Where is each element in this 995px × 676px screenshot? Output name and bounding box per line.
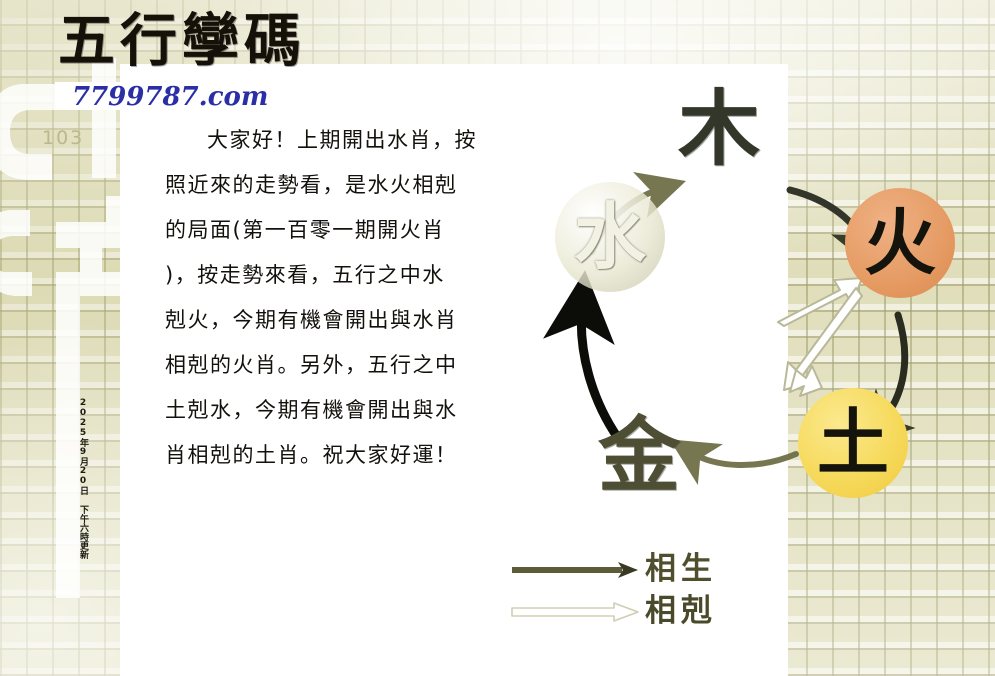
article-line: 的局面(第一百零一期開火肖 (165, 220, 505, 265)
element-earth: 土 (798, 388, 908, 498)
article-line: 肖相剋的土肖。祝大家好運！ (165, 445, 505, 490)
article-line: 土剋水，今期有機會開出與水 (165, 400, 505, 445)
article-line: 剋火，今期有機會開出與水肖 (165, 310, 505, 355)
outline-arrow-icon (510, 602, 640, 622)
element-wood: 木 (678, 88, 760, 170)
article-line: 照近來的走勢看，是水火相剋 (165, 175, 505, 220)
article-line: 相剋的火肖。另外，五行之中 (165, 355, 505, 400)
masthead: 五行孿碼 7799787.com (58, 12, 306, 69)
page-number: 103 (42, 127, 84, 149)
legend-label-overcoming: 相剋 (645, 596, 717, 627)
five-elements-forecast-page: 五行孿碼 7799787.com 103 2025年9月20日 下午六時更新 大… (0, 0, 995, 676)
brand-url[interactable]: 7799787.com (72, 82, 268, 112)
element-metal: 金 (598, 415, 680, 497)
article-body: 大家好！上期開出水肖，按 照近來的走勢看，是水火相剋 的局面(第一百零一期開火肖… (165, 130, 505, 490)
element-fire: 火 (845, 188, 955, 298)
five-elements-diagram: 木 火 土 金 水 相生 相剋 (500, 70, 995, 630)
article-line: 大家好！上期開出水肖，按 (165, 130, 505, 175)
brand-title: 五行孿碼 (58, 12, 306, 69)
diagram-legend: 相生 相剋 (510, 560, 770, 640)
legend-row-overcoming: 相剋 (510, 602, 760, 638)
article-line: )，按走勢來看，五行之中水 (165, 265, 505, 310)
update-timestamp: 2025年9月20日 下午六時更新 (78, 398, 87, 559)
legend-label-generating: 相生 (645, 554, 717, 585)
legend-row-generating: 相生 (510, 560, 760, 596)
element-water: 水 (555, 182, 665, 292)
solid-arrow-icon (510, 560, 640, 580)
